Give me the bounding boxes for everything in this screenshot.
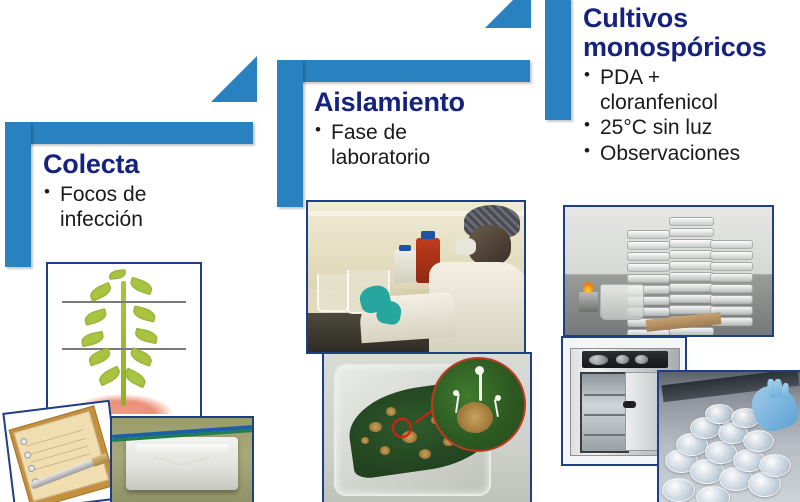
step3-text-block: Cultivos monospóricos PDA + cloranfenico… xyxy=(583,4,798,168)
tomato-plant-art xyxy=(48,264,200,420)
step1-text-block: Colecta Focos de infección xyxy=(43,150,258,233)
plant-leaf xyxy=(123,367,149,387)
petri-dish xyxy=(662,478,695,502)
petri-dish xyxy=(705,441,737,464)
plant-leaf xyxy=(129,348,155,367)
bottle-cap-blue xyxy=(421,231,434,239)
culture-box xyxy=(710,295,753,304)
container-stack xyxy=(669,217,712,322)
plant-stem xyxy=(121,281,126,406)
glass-jar xyxy=(600,284,643,319)
petri-dish-scene xyxy=(659,372,800,502)
plant-leaf xyxy=(97,366,123,386)
paper-rule xyxy=(26,429,84,446)
step2-text-block: Aislamiento Fase de laboratorio xyxy=(314,88,529,171)
step2-bullet-1: Fase de laboratorio xyxy=(314,121,529,170)
petri-dish xyxy=(705,404,734,424)
incubator-shelf xyxy=(584,414,625,416)
culture-stack-scene xyxy=(565,207,772,335)
step1-frame-left-bar xyxy=(5,122,31,267)
notepad-board xyxy=(9,405,118,502)
burner-flame xyxy=(583,281,593,293)
cooler-lid xyxy=(135,444,229,455)
spiral-ring xyxy=(27,464,36,473)
culture-box xyxy=(627,230,670,239)
petri-dish xyxy=(759,454,791,477)
step3-bullet-list: PDA + cloranfenicol 25°C sin luz Observa… xyxy=(583,66,798,166)
plant-leaf xyxy=(80,330,105,346)
step2-frame-left-bar xyxy=(277,60,303,207)
sporulation-magnifier-inset xyxy=(431,357,526,452)
step2-bullet-list: Fase de laboratorio xyxy=(314,121,529,170)
conidiophore xyxy=(479,370,482,401)
culture-box xyxy=(669,261,714,270)
plant-leaf xyxy=(129,276,154,294)
culture-box xyxy=(710,284,753,293)
plant-leaf xyxy=(86,348,111,367)
lab-hood-scene xyxy=(308,202,524,352)
conidiophore xyxy=(494,399,499,417)
culture-box xyxy=(710,251,753,260)
image-stacked-culture-containers xyxy=(563,205,774,337)
control-knob xyxy=(635,355,648,363)
culture-box xyxy=(710,273,753,282)
image-tomato-plant-diagram xyxy=(46,262,202,422)
incubator-shelf xyxy=(584,394,625,396)
bottle-cap-blue xyxy=(399,245,411,251)
step3-title: Cultivos monospóricos xyxy=(583,4,798,62)
step-wedge-1-icon xyxy=(211,56,257,102)
culture-box xyxy=(669,217,714,226)
humid-chamber-scene xyxy=(324,354,530,502)
step1-bullet-1: Focos de infección xyxy=(43,183,258,232)
spiral-ring xyxy=(20,437,29,446)
door-handle xyxy=(623,401,635,408)
container-stack xyxy=(710,240,751,322)
image-lesioned-leaf-in-container xyxy=(322,352,532,502)
cooler-lid-chevron xyxy=(155,456,209,465)
step1-bullet-list: Focos de infección xyxy=(43,183,258,232)
notepad-paper xyxy=(14,411,109,501)
plant-leaf xyxy=(88,282,114,302)
cooler-body xyxy=(126,437,238,490)
step3-bullet-3: Observaciones xyxy=(583,142,798,167)
step3-bullet-2: 25°C sin luz xyxy=(583,116,798,141)
cooler-art xyxy=(112,418,252,502)
magnified-lesion xyxy=(457,402,493,433)
step2-title: Aislamiento xyxy=(314,88,529,117)
paper-rule xyxy=(28,437,86,454)
culture-box xyxy=(627,274,670,283)
glass-beaker xyxy=(317,274,349,312)
face-mask xyxy=(455,238,477,255)
reagent-bottle-clear xyxy=(394,250,416,283)
image-laminar-flow-hood-technician xyxy=(306,200,526,354)
plant-leaf xyxy=(108,269,126,280)
culture-box xyxy=(627,241,670,250)
trellis-wire-lower xyxy=(62,348,187,350)
notepad-art xyxy=(5,402,120,502)
incubator-glass-door xyxy=(580,372,629,452)
culture-box xyxy=(627,263,670,272)
plant-leaf xyxy=(83,308,108,326)
culture-box xyxy=(627,252,670,261)
culture-box xyxy=(669,228,714,237)
step-wedge-2-icon xyxy=(485,0,531,28)
culture-box xyxy=(669,239,714,248)
step3-bullet-1: PDA + cloranfenicol xyxy=(583,66,798,115)
culture-box xyxy=(710,262,753,271)
alcohol-burner xyxy=(579,292,598,312)
leaf-lesion xyxy=(419,449,431,459)
plant-leaf xyxy=(134,327,159,343)
culture-box xyxy=(710,240,753,249)
leaf-lesion xyxy=(380,446,390,455)
incubator-shelf xyxy=(584,434,625,436)
plant-leaf xyxy=(132,305,157,322)
spiral-ring xyxy=(23,450,32,459)
step1-title: Colecta xyxy=(43,150,258,179)
image-field-notebook-and-pen xyxy=(2,400,121,502)
control-knob xyxy=(616,355,629,363)
culture-box xyxy=(669,250,714,259)
lesion-highlight-circle xyxy=(392,418,412,438)
culture-box xyxy=(669,283,714,292)
slide-canvas: Colecta Focos de infección xyxy=(0,0,800,502)
culture-box xyxy=(669,294,714,303)
petri-dish xyxy=(743,430,774,452)
image-styrofoam-cooler xyxy=(110,416,254,502)
culture-box xyxy=(669,272,714,281)
control-knob xyxy=(589,355,608,365)
paper-rule xyxy=(30,445,88,462)
step2-frame-top-bar xyxy=(277,60,530,82)
trellis-wire-upper xyxy=(62,301,187,303)
step1-frame-top-bar xyxy=(5,122,253,144)
culture-box xyxy=(669,327,714,336)
step3-frame-left-bar xyxy=(545,0,571,120)
incubator-control-panel xyxy=(582,351,668,368)
image-petri-dishes-in-incubator xyxy=(657,370,800,502)
